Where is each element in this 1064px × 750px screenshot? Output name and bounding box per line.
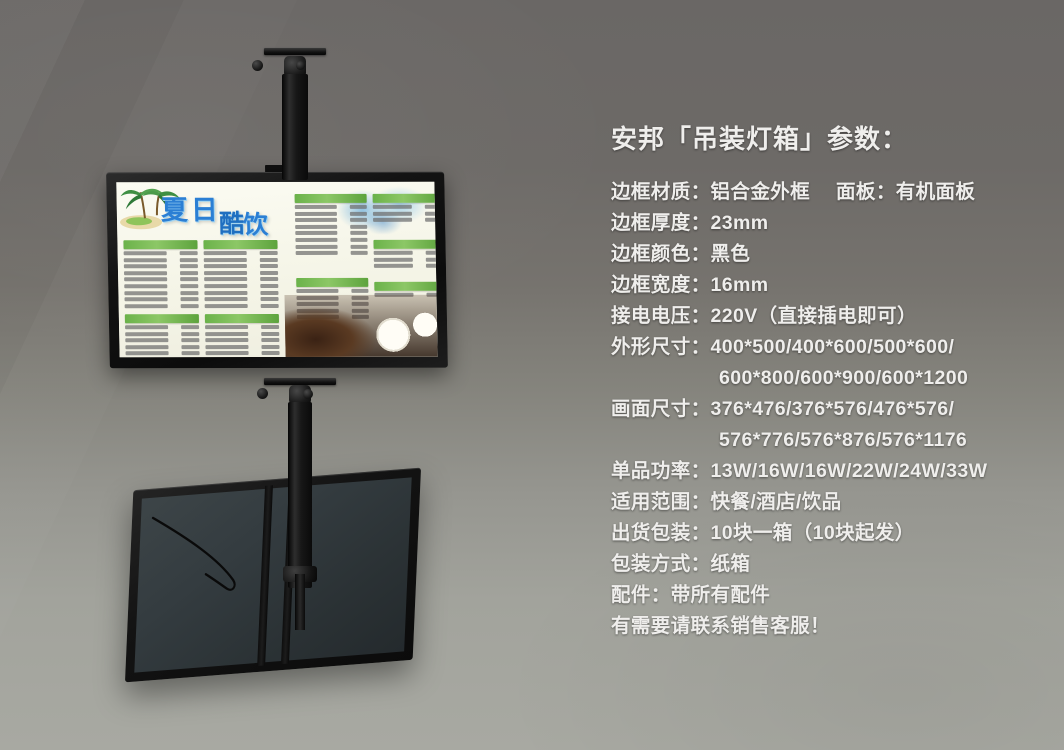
spec-line: 单品功率：13W/16W/16W/22W/24W/33W <box>611 456 1051 487</box>
spec-line: 边框颜色：黑色 <box>611 239 1051 270</box>
spec-line: 适用范围：快餐/酒店/饮品 <box>611 487 1051 518</box>
spec-label: 边框厚度： <box>611 212 711 234</box>
spec-value: 16mm <box>711 274 769 296</box>
section-header <box>296 278 368 287</box>
spec-value: 400*500/400*600/500*600/ <box>711 336 955 358</box>
menu-section <box>123 240 198 310</box>
menu-section <box>205 314 280 357</box>
spec-label: 画面尺寸： <box>611 398 711 420</box>
spec-label: 适用范围： <box>611 491 711 513</box>
section-header <box>205 314 279 323</box>
menu-poster: 夏 日 酷 饮 <box>116 182 437 358</box>
spec-value: 220V（直接插电即可） <box>711 305 917 327</box>
product-spec-image: 夏 日 酷 饮 <box>0 0 1064 750</box>
spec-label: 边框颜色： <box>611 243 711 265</box>
menu-section <box>203 240 278 310</box>
spec-value: 600*800/600*900/600*1200 <box>719 367 968 389</box>
lightbox-front: 夏 日 酷 饮 <box>106 172 448 369</box>
spec-value: 快餐/酒店/饮品 <box>711 491 842 513</box>
spec-label: 接电电压： <box>611 305 711 327</box>
section-header <box>374 282 437 291</box>
section-header <box>125 314 199 323</box>
spec-label: 出货包装： <box>611 522 711 544</box>
spec-value: 576*776/576*876/576*1176 <box>719 429 967 451</box>
spec-line: 画面尺寸：376*476/376*576/476*576/ <box>611 394 1051 425</box>
spec-value: 23mm <box>711 212 769 234</box>
spec-label: 边框材质： <box>611 181 711 203</box>
ceiling-mount-bottom <box>245 378 355 606</box>
poster-headline: 夏 日 酷 饮 <box>160 186 311 238</box>
spec-label: 外形尺寸： <box>611 336 711 358</box>
spec-line: 边框宽度：16mm <box>611 270 1051 301</box>
spec-line: 边框厚度：23mm <box>611 208 1051 239</box>
spec-line: 576*776/576*876/576*1176 <box>611 425 1051 456</box>
spec-line: 配件：带所有配件 <box>611 580 1051 611</box>
adjust-knob-secondary-icon <box>303 389 313 399</box>
ceiling-plate-icon <box>264 378 336 385</box>
spec-value: 铝合金外框 <box>711 181 811 203</box>
mount-pole <box>288 402 312 588</box>
spec-value: 10块一箱（10块起发） <box>711 522 915 544</box>
coffee-photo <box>284 295 437 357</box>
spec-line: 外形尺寸：400*500/400*600/500*600/ <box>611 332 1051 363</box>
spec-label: 配件： <box>611 584 671 606</box>
spec-panel: 安邦「吊装灯箱」参数： 边框材质：铝合金外框面板：有机面板边框厚度：23mm边框… <box>611 123 1051 642</box>
spec-line: 出货包装：10块一箱（10块起发） <box>611 518 1051 549</box>
section-header <box>123 240 197 249</box>
spec-line: 600*800/600*900/600*1200 <box>611 363 1051 394</box>
mount-extension-pole <box>295 574 305 630</box>
adjust-knob-secondary-icon <box>296 61 305 70</box>
spec-value-secondary: 有机面板 <box>896 181 976 203</box>
lightbox-screen: 夏 日 酷 饮 <box>116 182 437 358</box>
spec-line: 接电电压：220V（直接插电即可） <box>611 301 1051 332</box>
menu-section <box>295 194 368 258</box>
spec-label: 有需要请联系销售客服！ <box>611 615 830 637</box>
menu-section <box>373 240 437 271</box>
spec-line: 边框材质：铝合金外框面板：有机面板 <box>611 177 1051 208</box>
spec-value: 376*476/376*576/476*576/ <box>711 398 955 420</box>
spec-label: 边框宽度： <box>611 274 711 296</box>
adjust-knob-icon <box>252 60 263 71</box>
section-header <box>295 194 367 203</box>
section-header <box>373 194 438 203</box>
ceiling-plate-icon <box>264 48 326 55</box>
section-header <box>203 240 277 249</box>
spec-label-secondary: 面板： <box>836 181 896 203</box>
adjust-knob-icon <box>257 388 268 399</box>
spec-label: 包装方式： <box>611 553 711 575</box>
spec-line: 包装方式：纸箱 <box>611 549 1051 580</box>
spec-value: 黑色 <box>711 243 751 265</box>
spec-value: 13W/16W/16W/22W/24W/33W <box>711 460 988 482</box>
mount-pole <box>282 74 308 180</box>
spec-value: 带所有配件 <box>671 584 771 606</box>
ceiling-mount-top <box>240 48 350 178</box>
spec-line: 有需要请联系销售客服！ <box>611 611 1051 642</box>
section-header <box>373 240 437 249</box>
menu-section <box>373 194 438 225</box>
spec-value: 纸箱 <box>711 553 751 575</box>
spec-label: 单品功率： <box>611 460 711 482</box>
spec-line-list: 边框材质：铝合金外框面板：有机面板边框厚度：23mm边框颜色：黑色边框宽度：16… <box>611 177 1051 642</box>
menu-section <box>125 314 200 357</box>
spec-title: 安邦「吊装灯箱」参数： <box>611 123 1051 156</box>
